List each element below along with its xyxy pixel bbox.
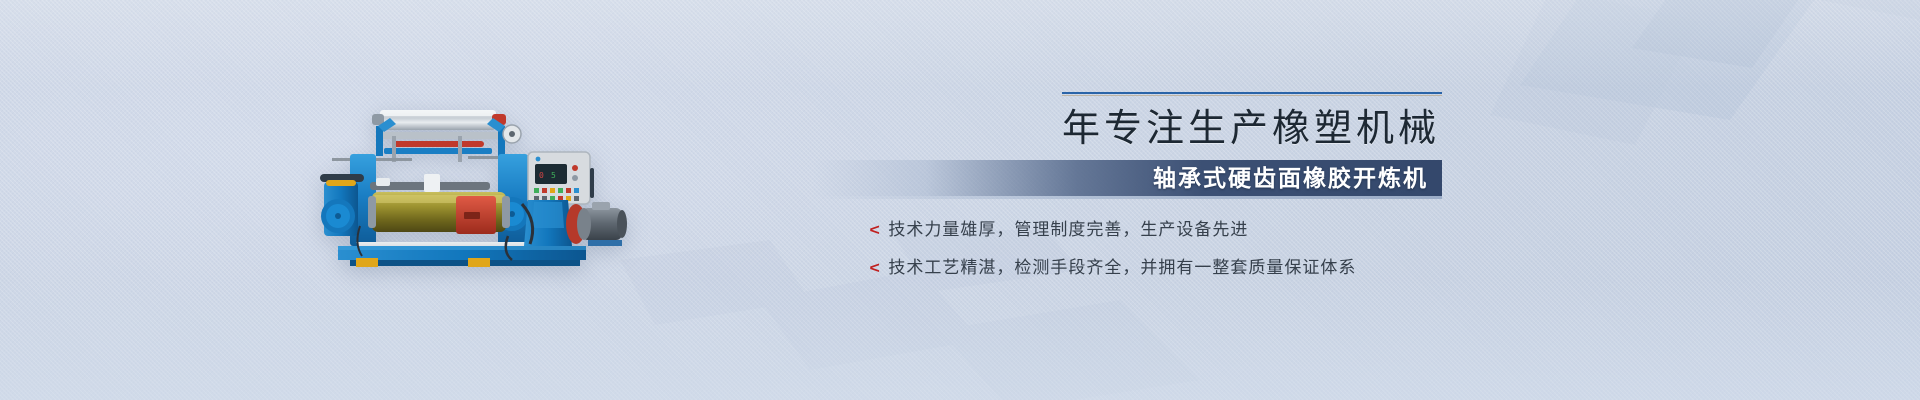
- chevron-left-icon: <: [870, 259, 880, 279]
- hero-content: 年专注生产橡塑机械 轴承式硬齿面橡胶开炼机 < 技术力量雄厚，管理制度完善，生产…: [1062, 92, 1582, 151]
- chevron-left-icon: <: [870, 221, 880, 241]
- feature-text: 技术力量雄厚，管理制度完善，生产设备先进: [888, 219, 1248, 241]
- gearbox: [456, 196, 496, 234]
- promo-banner: 0 5: [0, 0, 1920, 400]
- machine-base: [338, 246, 586, 267]
- control-panel: 0 5: [528, 152, 594, 204]
- feature-text: 技术工艺精湛，检测手段齐全，并拥有一整套质量保证体系: [888, 257, 1356, 279]
- list-item: < 技术工艺精湛，检测手段齐全，并拥有一整套质量保证体系: [870, 257, 1590, 279]
- title-divider: [1062, 92, 1442, 95]
- subtitle-bar: 轴承式硬齿面橡胶开炼机: [812, 160, 1442, 196]
- svg-text:5: 5: [551, 171, 556, 180]
- feature-list: < 技术力量雄厚，管理制度完善，生产设备先进 < 技术工艺精湛，检测手段齐全，并…: [870, 219, 1590, 295]
- subtitle: 轴承式硬齿面橡胶开炼机: [1153, 160, 1428, 196]
- motor: [566, 202, 627, 246]
- page-title: 年专注生产橡塑机械: [1062, 107, 1582, 151]
- list-item: < 技术力量雄厚，管理制度完善，生产设备先进: [870, 219, 1590, 241]
- svg-text:0: 0: [539, 171, 544, 180]
- product-image: 0 5: [272, 96, 632, 268]
